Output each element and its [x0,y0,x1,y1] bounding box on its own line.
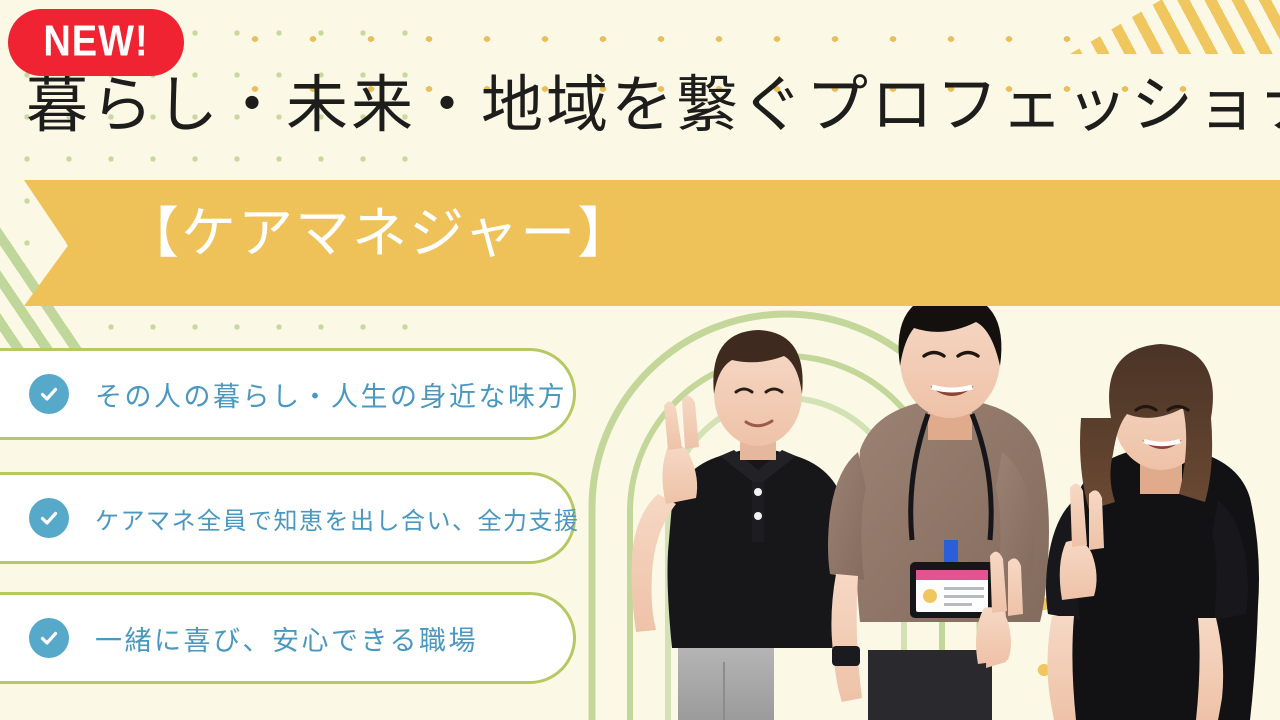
feature-pill-2-label: ケアマネ全員で知恵を出し合い、全力支援 [95,501,580,536]
staff-right-figure [1046,344,1259,720]
feature-pill-3-label: 一緒に喜び、安心できる職場 [95,619,478,658]
slide-canvas: NEW! 暮らし・未来・地域を繋ぐプロフェッショナル 【ケアマネジャー】 その人… [0,0,1280,720]
feature-pill-1-label: その人の暮らし・人生の身近な味方 [95,375,567,414]
staff-photo [560,290,1280,720]
page-title: 暮らし・未来・地域を繋ぐプロフェッショナル [26,74,1266,136]
staff-left-figure [631,330,851,720]
gold-dot-grid-bottom-decoration [1000,555,1280,720]
check-icon [29,374,69,414]
green-arch-lines-decoration [576,300,996,720]
new-badge-label: NEW! [43,18,148,67]
yellow-stripe-triangle-decoration [1070,0,1280,54]
check-icon [29,618,69,658]
role-ribbon-label: 【ケアマネジャー】 [124,206,634,261]
new-badge: NEW! [8,9,184,76]
check-icon [29,498,69,538]
feature-pill-3: 一緒に喜び、安心できる職場 [0,592,576,684]
feature-pill-2: ケアマネ全員で知恵を出し合い、全力支援 [0,472,576,564]
feature-pill-1: その人の暮らし・人生の身近な味方 [0,348,576,440]
staff-center-figure [828,292,1049,720]
